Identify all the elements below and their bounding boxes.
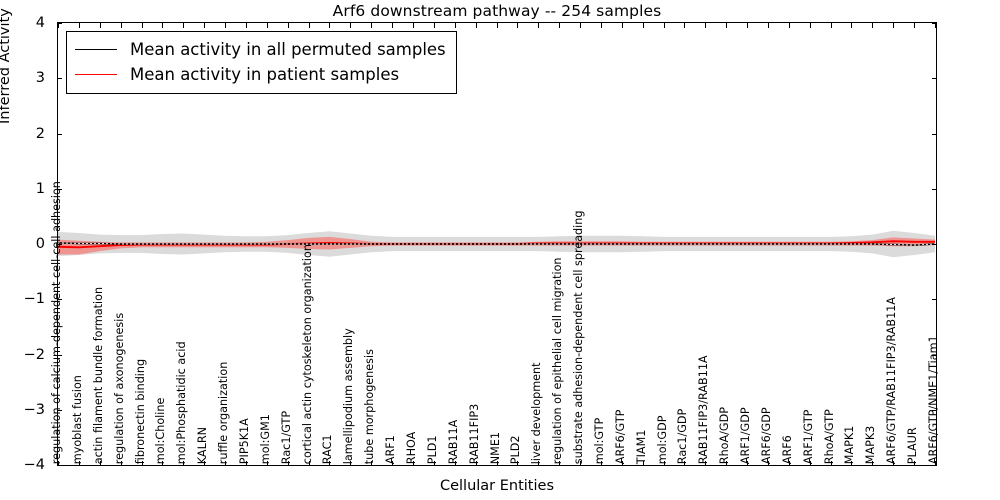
x-tick-mark-top: [476, 23, 477, 28]
y-tick-mark: [932, 355, 937, 356]
x-tick-mark-top: [371, 23, 372, 28]
x-tick-mark-top: [831, 23, 832, 28]
x-tick-mark: [371, 461, 372, 466]
y-tick-label: 1: [36, 182, 45, 197]
y-tick-mark: [57, 299, 62, 300]
x-tick-mark-top: [267, 23, 268, 28]
x-tick-mark-top: [204, 23, 205, 28]
x-tick-mark-top: [246, 23, 247, 28]
x-tick-mark: [517, 461, 518, 466]
y-tick-mark: [57, 355, 62, 356]
y-tick-mark: [932, 465, 937, 466]
x-tick-mark-top: [455, 23, 456, 28]
x-tick-mark-top: [851, 23, 852, 28]
x-tick-mark-top: [162, 23, 163, 28]
x-tick-marks: [57, 466, 937, 476]
x-tick-mark-top: [643, 23, 644, 28]
y-tick-mark: [932, 23, 937, 24]
x-tick-mark: [183, 461, 184, 466]
x-tick-mark-top: [142, 23, 143, 28]
y-tick-mark: [57, 23, 62, 24]
x-tick-mark-top: [872, 23, 873, 28]
x-tick-mark-top: [893, 23, 894, 28]
x-tick-mark-top: [392, 23, 393, 28]
x-tick-mark-top: [517, 23, 518, 28]
x-tick-mark: [142, 461, 143, 466]
y-tick-mark: [57, 244, 62, 245]
chart-title: Arf6 downstream pathway -- 254 samples: [57, 2, 937, 20]
x-tick-mark: [309, 461, 310, 466]
chart-figure: Arf6 downstream pathway -- 254 samples I…: [0, 0, 1000, 500]
x-tick-mark: [100, 461, 101, 466]
x-tick-mark: [831, 461, 832, 466]
x-tick-mark: [643, 461, 644, 466]
x-tick-mark-top: [121, 23, 122, 28]
legend-line-icon-permuted: [75, 49, 117, 50]
x-axis-title: Cellular Entities: [57, 478, 937, 494]
x-tick-mark: [622, 461, 623, 466]
x-tick-mark-top: [100, 23, 101, 28]
x-tick-mark: [810, 461, 811, 466]
x-tick-mark: [872, 461, 873, 466]
y-tick-label: 3: [36, 71, 45, 86]
y-tick-mark: [57, 410, 62, 411]
legend-label-permuted: Mean activity in all permuted samples: [130, 40, 446, 59]
chart-legend: Mean activity in all permuted samples Me…: [66, 31, 457, 94]
x-tick-mark-top: [810, 23, 811, 28]
legend-label-patient: Mean activity in patient samples: [130, 65, 399, 84]
y-tick-mark: [57, 78, 62, 79]
y-tick-label: −2: [24, 347, 45, 362]
x-tick-mark: [851, 461, 852, 466]
x-tick-mark-top: [350, 23, 351, 28]
x-tick-mark-top: [726, 23, 727, 28]
legend-line-icon-patient: [75, 74, 117, 75]
x-tick-mark-top: [914, 23, 915, 28]
y-tick-label: 4: [36, 16, 45, 31]
x-tick-mark: [288, 461, 289, 466]
x-tick-mark: [747, 461, 748, 466]
x-tick-mark: [413, 461, 414, 466]
x-tick-mark: [684, 461, 685, 466]
y-tick-label: −3: [24, 403, 45, 418]
x-tick-mark: [559, 461, 560, 466]
x-tick-mark: [601, 461, 602, 466]
x-tick-mark-top: [225, 23, 226, 28]
x-tick-mark-top: [664, 23, 665, 28]
y-tick-mark: [932, 244, 937, 245]
x-tick-mark: [329, 461, 330, 466]
x-tick-mark-top: [622, 23, 623, 28]
x-tick-mark: [705, 461, 706, 466]
x-tick-mark: [768, 461, 769, 466]
x-tick-mark: [204, 461, 205, 466]
x-tick-mark-top: [309, 23, 310, 28]
x-tick-mark: [350, 461, 351, 466]
x-tick-mark: [914, 461, 915, 466]
x-tick-mark: [664, 461, 665, 466]
x-tick-mark-top: [789, 23, 790, 28]
x-tick-mark-top: [497, 23, 498, 28]
x-tick-mark: [162, 461, 163, 466]
x-tick-mark: [225, 461, 226, 466]
x-tick-mark-top: [183, 23, 184, 28]
x-tick-mark-top: [288, 23, 289, 28]
x-tick-mark-top: [434, 23, 435, 28]
x-tick-mark: [392, 461, 393, 466]
y-tick-label: −1: [24, 292, 45, 307]
x-tick-mark-top: [580, 23, 581, 28]
x-tick-mark-top: [747, 23, 748, 28]
x-tick-mark: [434, 461, 435, 466]
y-tick-mark: [932, 410, 937, 411]
y-tick-mark: [57, 134, 62, 135]
y-tick-mark: [932, 189, 937, 190]
x-tick-mark-top: [413, 23, 414, 28]
x-tick-mark-top: [768, 23, 769, 28]
x-tick-mark: [580, 461, 581, 466]
x-tick-mark: [455, 461, 456, 466]
y-tick-mark: [57, 465, 62, 466]
y-tick-mark: [57, 189, 62, 190]
x-tick-mark: [267, 461, 268, 466]
y-tick-mark: [932, 299, 937, 300]
y-tick-label: 2: [36, 126, 45, 141]
x-tick-mark: [246, 461, 247, 466]
x-tick-mark: [893, 461, 894, 466]
x-tick-mark: [726, 461, 727, 466]
y-tick-labels: 43210−1−2−3−4: [0, 22, 52, 466]
x-tick-mark-top: [705, 23, 706, 28]
legend-item-permuted: Mean activity in all permuted samples: [75, 37, 446, 62]
x-tick-mark: [789, 461, 790, 466]
y-tick-label: 0: [36, 237, 45, 252]
x-tick-mark-top: [601, 23, 602, 28]
x-tick-mark-top: [79, 23, 80, 28]
x-tick-mark-top: [538, 23, 539, 28]
x-tick-mark: [476, 461, 477, 466]
x-tick-mark: [79, 461, 80, 466]
x-tick-mark-top: [329, 23, 330, 28]
legend-item-patient: Mean activity in patient samples: [75, 62, 446, 87]
y-tick-mark: [932, 134, 937, 135]
x-tick-mark: [538, 461, 539, 466]
y-tick-label: −4: [24, 458, 45, 473]
x-tick-mark: [121, 461, 122, 466]
x-tick-mark-top: [559, 23, 560, 28]
x-tick-mark: [497, 461, 498, 466]
y-tick-mark: [932, 78, 937, 79]
x-tick-mark-top: [684, 23, 685, 28]
